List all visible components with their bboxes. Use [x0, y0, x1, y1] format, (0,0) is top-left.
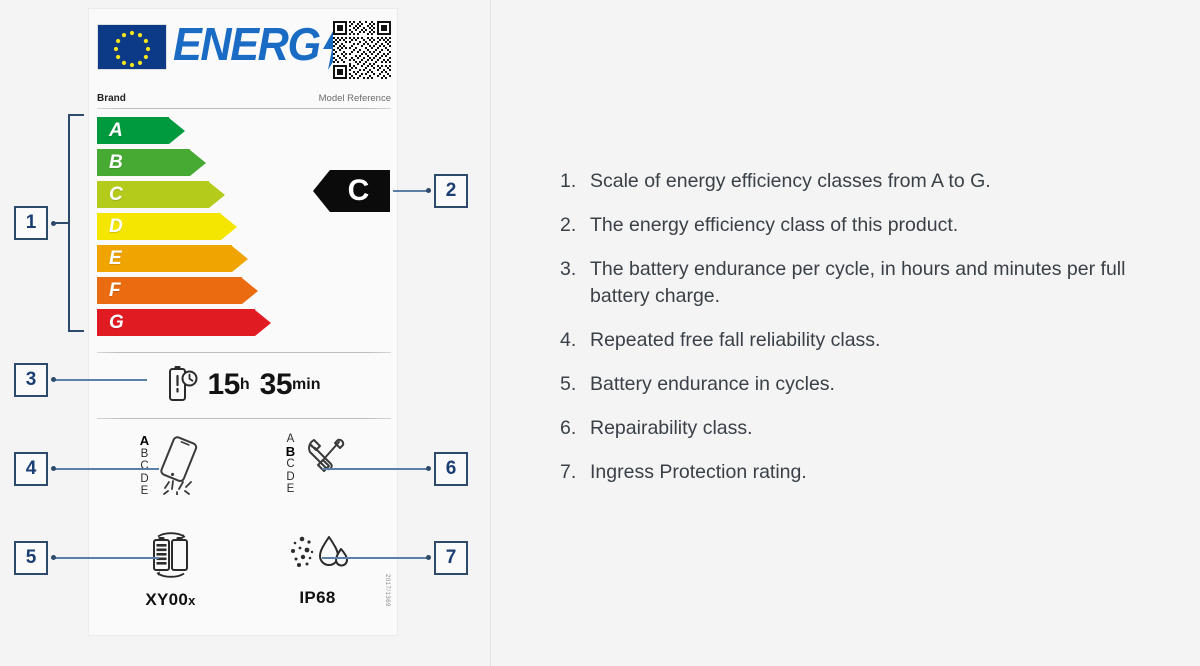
- callout-5[interactable]: 5: [14, 541, 48, 575]
- energy-class-badge: C: [313, 170, 390, 212]
- callout-4-dot: [51, 466, 56, 471]
- value-icons-row: XY00x: [97, 531, 391, 623]
- energy-class-bar-E: E: [97, 245, 391, 272]
- legend-item-number: 5.: [560, 371, 576, 398]
- callout-2[interactable]: 2: [434, 174, 468, 208]
- callout-1-dot: [51, 221, 56, 226]
- legend-item-text: Ingress Protection rating.: [590, 461, 807, 483]
- callout-6-connector: [322, 468, 429, 470]
- legend-item-4: 4.Repeated free fall reliability class.: [560, 327, 1190, 354]
- repairability-cell: ABCDE: [244, 433, 391, 517]
- legend-item-7: 7.Ingress Protection rating.: [560, 459, 1190, 486]
- brand-model-line: Brand Model Reference: [97, 93, 391, 104]
- class-icons-row: ABCDE ABCDE: [97, 433, 391, 517]
- energy-class-letter: A: [109, 117, 123, 144]
- energy-class-letter: G: [109, 309, 124, 336]
- legend-item-number: 3.: [560, 256, 576, 283]
- callout-5-dot: [51, 555, 56, 560]
- battery-endurance-row: 15h 35min: [97, 361, 391, 409]
- drop-class-B: B: [141, 448, 149, 461]
- repairability-ladder: ABCDE: [286, 433, 295, 496]
- callout-6-dot: [426, 466, 431, 471]
- legend-item-number: 7.: [560, 459, 576, 486]
- legend-item-number: 2.: [560, 212, 576, 239]
- label-header: ENERG: [97, 19, 391, 77]
- legend-item-text: Repairability class.: [590, 417, 753, 439]
- callout-4[interactable]: 4: [14, 452, 48, 486]
- energy-label-card: ENERG: [88, 8, 398, 636]
- endurance-minutes: 35: [260, 368, 292, 402]
- ingress-protection-cell: IP68: [244, 531, 391, 623]
- ip-rating-value: IP68: [299, 588, 335, 608]
- qr-code-icon: [333, 21, 391, 79]
- panel-divider: [490, 0, 491, 666]
- battery-cycles-value: XY00x: [145, 590, 195, 610]
- scale-bracket: [68, 114, 84, 332]
- legend-item-text: Battery endurance in cycles.: [590, 373, 835, 395]
- legend-item-text: Repeated free fall reliability class.: [590, 329, 880, 351]
- battery-cycles-cell: XY00x: [97, 531, 244, 623]
- callout-2-connector: [393, 190, 429, 192]
- legend-item-text: The battery endurance per cycle, in hour…: [590, 258, 1125, 307]
- drop-class-E: E: [141, 485, 149, 498]
- callout-7[interactable]: 7: [434, 541, 468, 575]
- legend-item-text: The energy efficiency class of this prod…: [590, 214, 958, 236]
- legend-item-number: 4.: [560, 327, 576, 354]
- callout-3-connector: [54, 379, 147, 381]
- legend-item-5: 5.Battery endurance in cycles.: [560, 371, 1190, 398]
- repair-class-B: B: [286, 446, 295, 459]
- energy-class-scale: ABCDEFG: [97, 117, 391, 345]
- callout-6[interactable]: 6: [434, 452, 468, 486]
- callout-4-connector: [54, 468, 159, 470]
- energy-class-letter: B: [109, 149, 123, 176]
- energy-class-bar-D: D: [97, 213, 391, 240]
- energ-wordmark: ENERG: [173, 17, 320, 71]
- callout-2-dot: [426, 188, 431, 193]
- repair-class-C: C: [286, 458, 294, 471]
- legend-item-2: 2.The energy efficiency class of this pr…: [560, 212, 1190, 239]
- energy-class-bar-F: F: [97, 277, 391, 304]
- phone-drop-icon: [155, 433, 201, 500]
- brand-label: Brand: [97, 93, 126, 104]
- endurance-hours-unit: h: [240, 376, 250, 394]
- page-root: ENERG: [0, 0, 1200, 666]
- callout-5-connector: [54, 557, 159, 559]
- energy-class-letter: F: [109, 277, 121, 304]
- callout-7-connector: [322, 557, 429, 559]
- callout-3[interactable]: 3: [14, 363, 48, 397]
- divider-mid: [97, 352, 391, 353]
- callout-3-dot: [51, 377, 56, 382]
- legend-item-text: Scale of energy efficiency classes from …: [590, 170, 991, 192]
- legend-list: 1.Scale of energy efficiency classes fro…: [560, 168, 1190, 503]
- legend-item-number: 6.: [560, 415, 576, 442]
- endurance-minutes-unit: min: [292, 376, 320, 394]
- callout-7-dot: [426, 555, 431, 560]
- battery-clock-icon: [168, 364, 198, 407]
- tools-icon: [301, 434, 349, 495]
- legend-item-6: 6.Repairability class.: [560, 415, 1190, 442]
- legend-item-number: 1.: [560, 168, 576, 195]
- callout-1[interactable]: 1: [14, 206, 48, 240]
- drop-test-ladder: ABCDE: [140, 435, 149, 498]
- divider-top: [97, 108, 391, 109]
- endurance-hours: 15: [208, 368, 240, 402]
- eu-flag-icon: [97, 24, 167, 70]
- class-badge-letter: C: [313, 170, 390, 212]
- energy-class-letter: C: [109, 181, 123, 208]
- energy-class-bar-G: G: [97, 309, 391, 336]
- model-reference-label: Model Reference: [319, 93, 391, 104]
- regulation-reference: 2017/1369: [384, 574, 390, 607]
- drop-test-cell: ABCDE: [97, 433, 244, 517]
- energy-class-bar-A: A: [97, 117, 391, 144]
- drop-class-A: A: [140, 435, 149, 448]
- drop-class-C: C: [140, 460, 148, 473]
- energy-class-letter: E: [109, 245, 122, 272]
- legend-item-1: 1.Scale of energy efficiency classes fro…: [560, 168, 1190, 195]
- divider-bottom: [97, 418, 391, 419]
- repair-class-D: D: [286, 471, 294, 484]
- repair-class-E: E: [287, 483, 295, 496]
- energy-class-letter: D: [109, 213, 123, 240]
- drop-class-D: D: [140, 473, 148, 486]
- legend-item-3: 3.The battery endurance per cycle, in ho…: [560, 256, 1190, 310]
